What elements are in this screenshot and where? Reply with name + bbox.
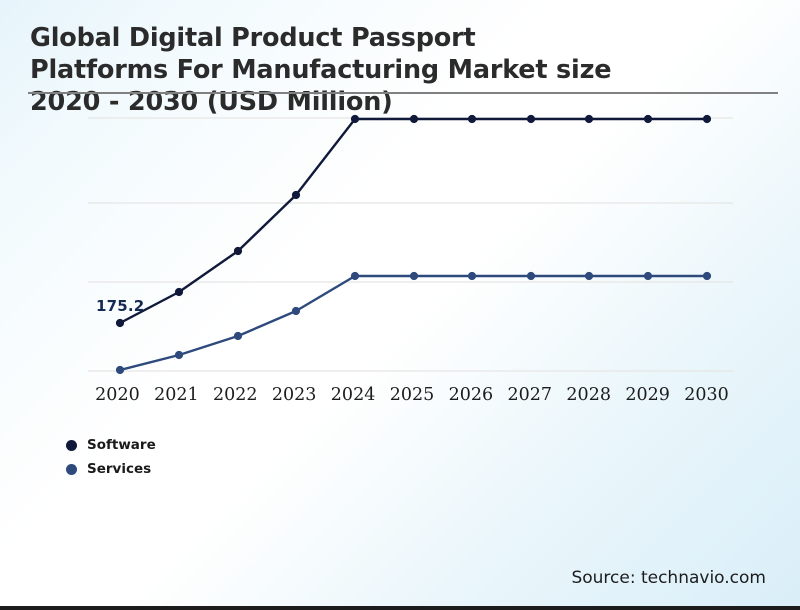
x-axis-labels: 2020202120222023202420252026202720282029…: [88, 385, 736, 405]
data-point-marker[interactable]: [585, 115, 593, 123]
x-axis-tick-2026: 2026: [441, 385, 500, 405]
data-point-marker[interactable]: [644, 115, 652, 123]
data-point-label: 175.2: [96, 297, 144, 315]
series-line: [120, 119, 707, 323]
data-point-marker[interactable]: [468, 115, 476, 123]
data-point-marker[interactable]: [527, 272, 535, 280]
x-axis-tick-2024: 2024: [324, 385, 383, 405]
data-point-marker[interactable]: [468, 272, 476, 280]
data-point-marker[interactable]: [585, 272, 593, 280]
series-software: [116, 115, 711, 327]
legend-dot-icon: [66, 464, 77, 475]
data-point-marker[interactable]: [703, 272, 711, 280]
series-line: [120, 276, 707, 370]
data-point-marker[interactable]: [410, 115, 418, 123]
data-point-marker[interactable]: [292, 191, 300, 199]
x-axis-tick-2028: 2028: [559, 385, 618, 405]
data-point-marker[interactable]: [175, 288, 183, 296]
series-services: [116, 272, 711, 374]
source-attribution: Source: technavio.com: [571, 568, 766, 588]
legend-item-software[interactable]: Software: [66, 433, 156, 457]
data-point-marker[interactable]: [410, 272, 418, 280]
legend-item-label: Software: [87, 437, 156, 453]
gridlines: [88, 118, 733, 371]
data-point-marker[interactable]: [234, 247, 242, 255]
x-axis-tick-2025: 2025: [383, 385, 442, 405]
data-point-marker[interactable]: [116, 366, 124, 374]
data-point-marker[interactable]: [116, 319, 124, 327]
legend-item-services[interactable]: Services: [66, 457, 156, 481]
data-point-marker[interactable]: [351, 272, 359, 280]
x-axis-tick-2030: 2030: [677, 385, 736, 405]
x-axis-tick-2027: 2027: [500, 385, 559, 405]
data-point-marker[interactable]: [527, 115, 535, 123]
legend-item-label: Services: [87, 461, 151, 477]
series-lines: [116, 115, 711, 374]
chart-legend: SoftwareServices: [66, 433, 156, 481]
x-axis-tick-2020: 2020: [88, 385, 147, 405]
data-point-marker[interactable]: [234, 332, 242, 340]
data-point-marker[interactable]: [703, 115, 711, 123]
x-axis-tick-2022: 2022: [206, 385, 265, 405]
x-axis-tick-2021: 2021: [147, 385, 206, 405]
chart-page: Global Digital Product Passport Platform…: [0, 0, 800, 610]
x-axis-tick-2029: 2029: [618, 385, 677, 405]
x-axis-tick-2023: 2023: [265, 385, 324, 405]
data-point-marker[interactable]: [292, 307, 300, 315]
data-point-marker[interactable]: [351, 115, 359, 123]
bottom-border: [0, 606, 800, 610]
data-point-marker[interactable]: [175, 351, 183, 359]
data-point-marker[interactable]: [644, 272, 652, 280]
legend-dot-icon: [66, 440, 77, 451]
